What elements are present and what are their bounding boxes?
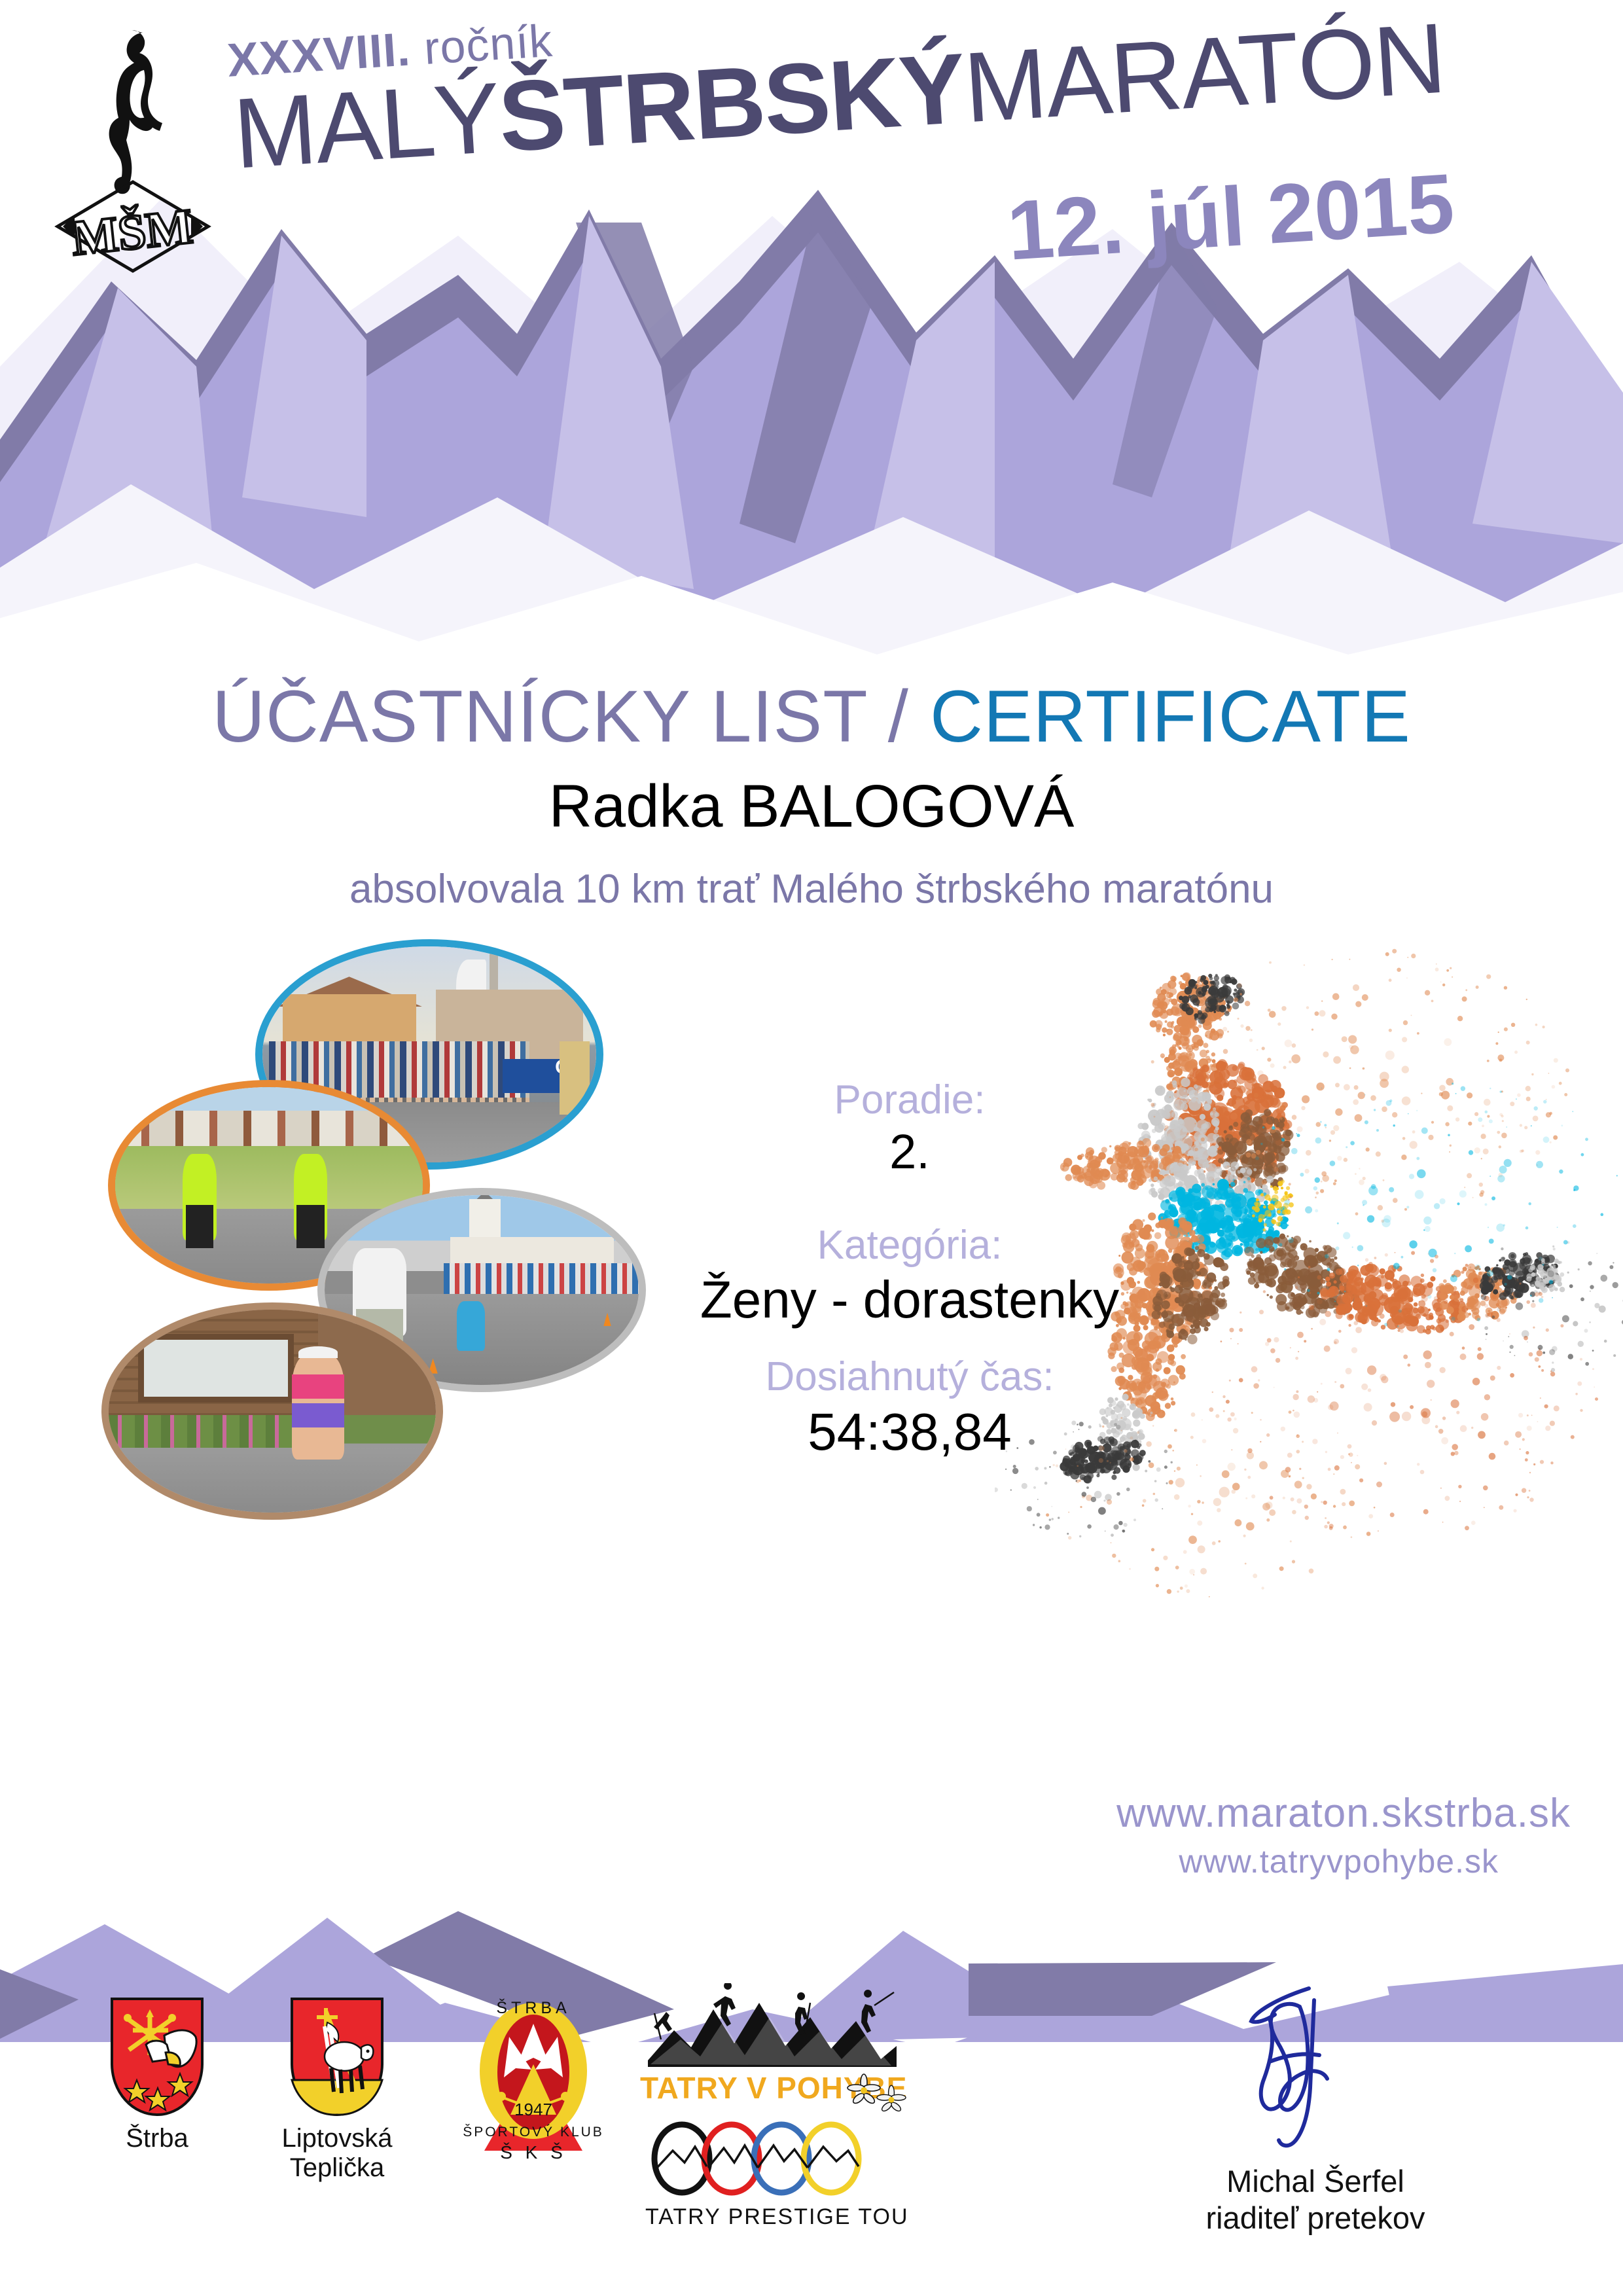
signature-role: riaditeľ pretekov xyxy=(1132,2200,1499,2236)
certificate-subtitle: absolvovala 10 km trať Malého štrbského … xyxy=(0,866,1623,912)
heading-separator: / xyxy=(888,675,909,757)
sponsor-tatry-group: TATRY V POHYBE xyxy=(635,1983,910,2248)
strba-coat-of-arms-icon xyxy=(108,1996,206,2117)
sponsor-logos: Štrba Liptovská xyxy=(0,1983,1623,2265)
sks-club-logo-icon: ŠTRBA 1947 ŠPORTOVÝ KLUB Š K Š xyxy=(458,1987,609,2164)
sks-arc-text: ŠPORTOVÝ KLUB xyxy=(463,2125,604,2140)
certificate-page: MŠM XXXVIII. ročník MALÝŠTRBSKÝMARATÓN 1… xyxy=(0,0,1623,2296)
sks-top-text: ŠTRBA xyxy=(496,1998,570,2017)
photo-collage xyxy=(85,929,648,1859)
msm-logo: MŠM xyxy=(45,18,221,274)
sponsor-liptovska-teplicka-caption: Liptovská Teplička xyxy=(242,2124,432,2183)
certificate-heading: ÚČASTNÍCKY LIST / CERTIFICATE xyxy=(0,674,1623,759)
sponsor-strba-caption: Štrba xyxy=(75,2124,239,2153)
signature-name: Michal Šerfel xyxy=(1132,2163,1499,2200)
heading-english: CERTIFICATE xyxy=(930,675,1411,757)
athlete-name: Radka BALOGOVÁ xyxy=(0,772,1623,841)
sponsor-sks-club: ŠTRBA 1947 ŠPORTOVÝ KLUB Š K Š xyxy=(445,1987,622,2167)
dot-particle-runner-art xyxy=(995,936,1623,1761)
photo-female-runner-cottage xyxy=(101,1302,443,1520)
sks-year: 1947 xyxy=(514,2100,552,2119)
primary-url[interactable]: www.maraton.skstrba.sk xyxy=(0,1790,1571,1837)
signature-block: Michal Šerfel riaditeľ pretekov xyxy=(1132,1983,1499,2237)
sponsor-strba: Štrba xyxy=(75,1996,239,2153)
sks-abbr: Š K Š xyxy=(500,2142,567,2162)
event-title-part1: MALÝ xyxy=(230,62,503,190)
secondary-url[interactable]: www.tatryvpohybe.sk xyxy=(0,1842,1499,1880)
tatry-v-pohybe-logo-icon: TATRY V POHYBE xyxy=(635,1983,910,2245)
liptovska-teplicka-coat-of-arms-icon xyxy=(288,1996,386,2117)
caption-line-2: Teplička xyxy=(242,2153,432,2183)
heading-slovak: ÚČASTNÍCKY LIST xyxy=(212,675,866,757)
header-banner: MŠM XXXVIII. ročník MALÝŠTRBSKÝMARATÓN 1… xyxy=(0,0,1623,661)
handwritten-signature-icon xyxy=(1171,1983,1459,2160)
sponsor-liptovska-teplicka: Liptovská Teplička xyxy=(242,1996,432,2183)
caption-line-1: Liptovská xyxy=(242,2124,432,2153)
tatry-prestige-tour-wordmark: TATRY PRESTIGE TOUR xyxy=(645,2204,910,2229)
svg-text:MŠM: MŠM xyxy=(69,199,195,266)
